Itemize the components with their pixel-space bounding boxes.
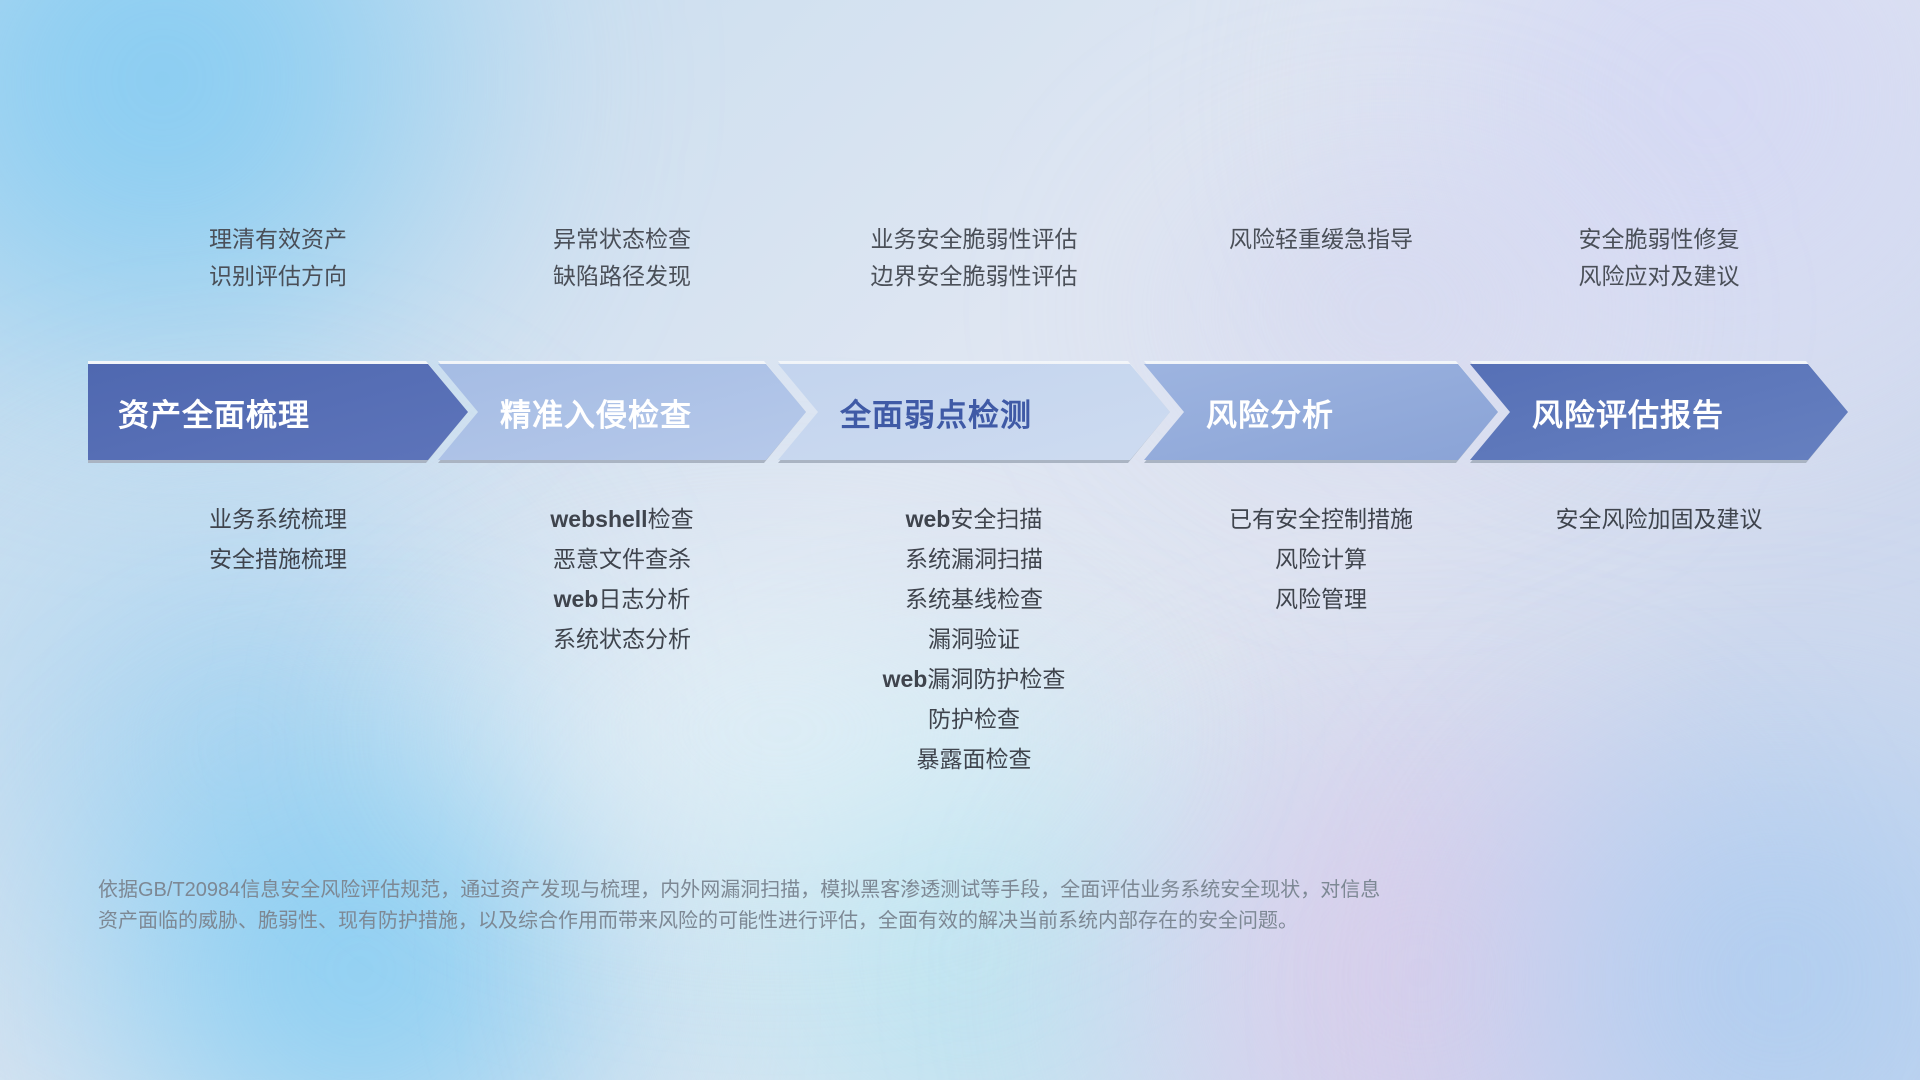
- process-arrow-band: 资产全面梳理精准入侵检查全面弱点检测风险分析风险评估报告: [88, 364, 1848, 460]
- bottom-item-text: 防护检查: [928, 708, 1020, 731]
- bottom-item-keyword: webshell: [550, 508, 647, 531]
- bottom-item: 风险计算: [1275, 546, 1367, 572]
- top-note: 风险轻重缓急指导: [1229, 228, 1413, 251]
- bottom-item: 系统状态分析: [553, 626, 691, 652]
- bottom-item-keyword: web: [906, 508, 951, 531]
- process-diagram: 理清有效资产识别评估方向异常状态检查缺陷路径发现业务安全脆弱性评估边界安全脆弱性…: [0, 0, 1920, 1080]
- bottom-item-text: 安全措施梳理: [209, 548, 347, 571]
- stage-title-asset-inventory: 资产全面梳理: [118, 390, 310, 435]
- bottom-item-keyword: web: [883, 668, 928, 691]
- top-note: 业务安全脆弱性评估: [871, 228, 1078, 251]
- top-notes-asset-inventory: 理清有效资产识别评估方向: [78, 228, 478, 288]
- top-notes-row: 理清有效资产识别评估方向异常状态检查缺陷路径发现业务安全脆弱性评估边界安全脆弱性…: [0, 228, 1920, 318]
- top-note: 安全脆弱性修复: [1579, 228, 1740, 251]
- bottom-item-text: 风险计算: [1275, 548, 1367, 571]
- top-notes-assessment-report: 安全脆弱性修复风险应对及建议: [1459, 228, 1859, 288]
- top-note: 风险应对及建议: [1579, 265, 1740, 288]
- bottom-item-text: 安全风险加固及建议: [1556, 508, 1763, 531]
- bottom-item: 安全风险加固及建议: [1556, 506, 1763, 532]
- footer-line-1: 依据GB/T20984信息安全风险评估规范，通过资产发现与梳理，内外网漏洞扫描，…: [98, 875, 1748, 906]
- top-notes-weakness-detection: 业务安全脆弱性评估边界安全脆弱性评估: [774, 228, 1174, 288]
- bottom-item-text: 系统基线检查: [905, 588, 1043, 611]
- bottom-item-keyword: web: [554, 588, 599, 611]
- bottom-item-text: 系统漏洞扫描: [905, 548, 1043, 571]
- bottom-item: 安全措施梳理: [209, 546, 347, 572]
- bottom-item-text: 业务系统梳理: [209, 508, 347, 531]
- footer-description: 依据GB/T20984信息安全风险评估规范，通过资产发现与梳理，内外网漏洞扫描，…: [98, 875, 1748, 937]
- stage-title-risk-analysis: 风险分析: [1206, 390, 1334, 435]
- stage-arrow-asset-inventory[interactable]: 资产全面梳理: [88, 364, 468, 460]
- bottom-item: web漏洞防护检查: [883, 666, 1066, 692]
- bottom-item: 防护检查: [928, 706, 1020, 732]
- bottom-item: webshell检查: [550, 506, 693, 532]
- stage-title-assessment-report: 风险评估报告: [1532, 390, 1724, 435]
- bottom-item: web安全扫描: [906, 506, 1043, 532]
- bottom-item: 暴露面检查: [917, 746, 1032, 772]
- bottom-item: 业务系统梳理: [209, 506, 347, 532]
- top-note: 缺陷路径发现: [553, 265, 691, 288]
- stage-arrow-risk-analysis[interactable]: 风险分析: [1144, 364, 1498, 460]
- stage-arrow-weakness-detection[interactable]: 全面弱点检测: [778, 364, 1170, 460]
- bottom-item-text: 日志分析: [598, 588, 690, 611]
- bottom-item: 风险管理: [1275, 586, 1367, 612]
- stage-arrow-assessment-report[interactable]: 风险评估报告: [1470, 364, 1848, 460]
- bottom-item: 已有安全控制措施: [1229, 506, 1413, 532]
- bottom-item-text: 安全扫描: [950, 508, 1042, 531]
- stage-arrow-intrusion-check[interactable]: 精准入侵检查: [438, 364, 806, 460]
- top-note: 理清有效资产: [209, 228, 347, 251]
- footer-line-2: 资产面临的威胁、脆弱性、现有防护措施，以及综合作用而带来风险的可能性进行评估，全…: [98, 906, 1748, 937]
- bottom-item-text: 漏洞防护检查: [927, 668, 1065, 691]
- top-note: 识别评估方向: [209, 265, 347, 288]
- bottom-item-text: 已有安全控制措施: [1229, 508, 1413, 531]
- stage-title-weakness-detection: 全面弱点检测: [840, 390, 1032, 435]
- top-notes-intrusion-check: 异常状态检查缺陷路径发现: [422, 228, 822, 288]
- bottom-item: 漏洞验证: [928, 626, 1020, 652]
- bottom-item: web日志分析: [554, 586, 691, 612]
- bottom-items-assessment-report: 安全风险加固及建议: [1439, 506, 1879, 532]
- bottom-item-text: 系统状态分析: [553, 628, 691, 651]
- top-note: 异常状态检查: [553, 228, 691, 251]
- bottom-item-text: 检查: [648, 508, 694, 531]
- top-note: 边界安全脆弱性评估: [871, 265, 1078, 288]
- bottom-item-text: 风险管理: [1275, 588, 1367, 611]
- bottom-item-text: 漏洞验证: [928, 628, 1020, 651]
- bottom-item: 系统基线检查: [905, 586, 1043, 612]
- stage-title-intrusion-check: 精准入侵检查: [500, 390, 692, 435]
- bottom-item: 系统漏洞扫描: [905, 546, 1043, 572]
- bottom-item: 恶意文件查杀: [553, 546, 691, 572]
- bottom-item-text: 暴露面检查: [917, 748, 1032, 771]
- bottom-item-text: 恶意文件查杀: [553, 548, 691, 571]
